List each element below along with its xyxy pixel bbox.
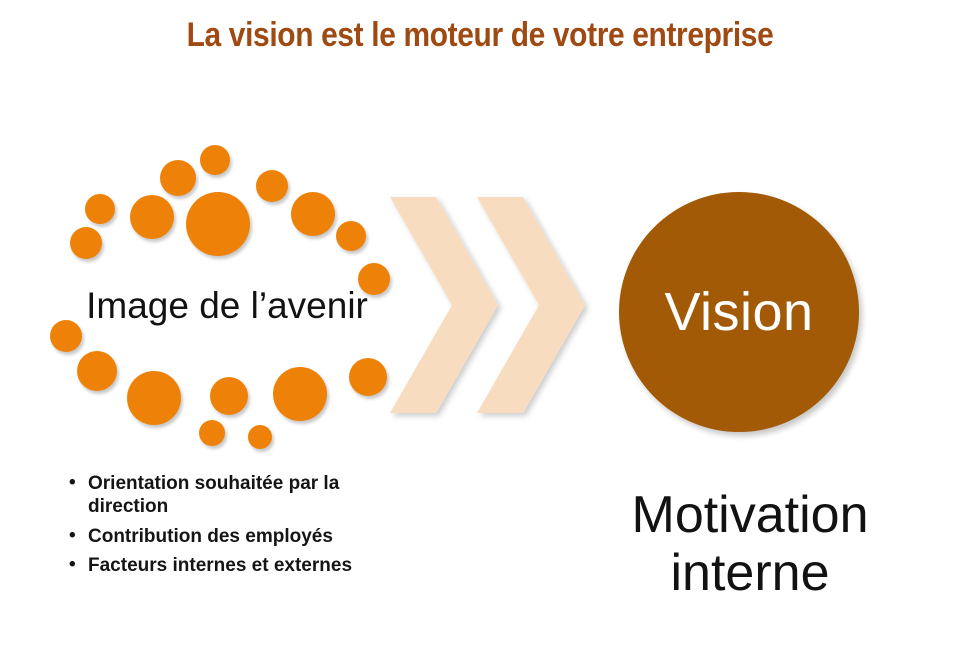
- slide-canvas: La vision est le moteur de votre entrepr…: [0, 0, 960, 668]
- cluster-dot: [291, 192, 335, 236]
- cluster-dot: [85, 194, 115, 224]
- motivation-line-1: Motivation: [540, 486, 960, 544]
- vision-label: Vision: [664, 285, 813, 339]
- cluster-dot: [77, 351, 117, 391]
- list-item: Contribution des employés: [68, 525, 398, 548]
- cluster-dot: [200, 145, 230, 175]
- list-item: Facteurs internes et externes: [68, 554, 398, 577]
- cluster-dot: [210, 377, 248, 415]
- cluster-dot: [256, 170, 288, 202]
- cluster-dot: [349, 358, 387, 396]
- motivation-caption: Motivation interne: [540, 486, 960, 602]
- cluster-dot: [160, 160, 196, 196]
- list-item: Orientation souhaitée par la direction: [68, 472, 398, 519]
- future-image-label: Image de l’avenir: [62, 285, 392, 327]
- bullet-list: Orientation souhaitée par la direction C…: [68, 472, 398, 583]
- cluster-dot: [70, 227, 102, 259]
- cluster-dot: [199, 420, 225, 446]
- chevron-right-icon-2: [477, 197, 585, 413]
- page-title: La vision est le moteur de votre entrepr…: [58, 16, 903, 55]
- cluster-dot: [248, 425, 272, 449]
- cluster-dot: [186, 192, 250, 256]
- cluster-dot: [127, 371, 181, 425]
- vision-circle: Vision: [619, 192, 859, 432]
- cluster-dot: [130, 195, 174, 239]
- cluster-dot: [273, 367, 327, 421]
- motivation-line-2: interne: [540, 544, 960, 602]
- cluster-dot: [336, 221, 366, 251]
